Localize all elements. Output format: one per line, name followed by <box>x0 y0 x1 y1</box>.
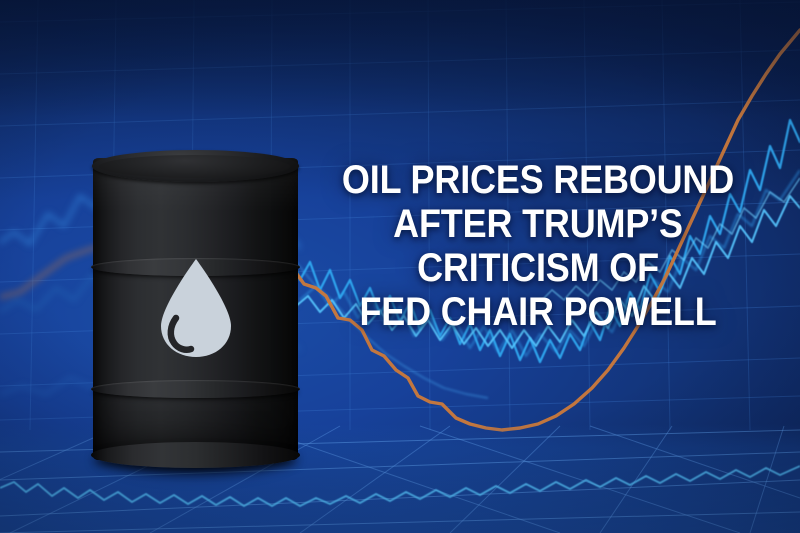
headline-line-3: CRITICISM OF <box>340 246 736 290</box>
barrel-top-rim <box>92 150 299 182</box>
barrel-rib-lower <box>91 380 300 398</box>
headline-line-1: OIL PRICES REBOUND <box>340 158 736 202</box>
headline-line-4: FED CHAIR POWELL <box>340 290 736 334</box>
barrel-bottom-rim <box>91 442 300 468</box>
page-title: OIL PRICES REBOUND AFTER TRUMP’S CRITICI… <box>340 158 736 334</box>
oil-drop-icon <box>155 256 237 360</box>
headline-line-2: AFTER TRUMP’S <box>340 202 736 246</box>
news-graphic: OIL PRICES REBOUND AFTER TRUMP’S CRITICI… <box>0 0 800 533</box>
oil-barrel <box>93 150 298 472</box>
barrel-top-surface <box>99 155 290 178</box>
